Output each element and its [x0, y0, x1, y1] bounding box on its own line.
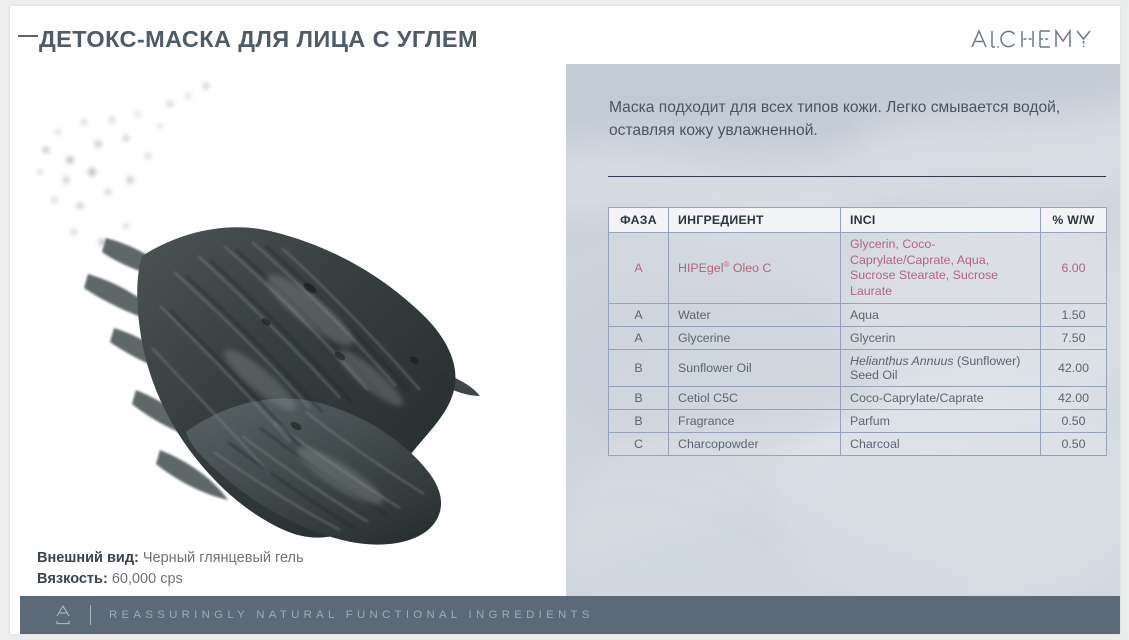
slide-footer: REASSURINGLY NATURAL FUNCTIONAL INGREDIE… [20, 596, 1120, 634]
table-row: BFragranceParfum0.50 [609, 410, 1107, 433]
table-row: CCharcopowderCharcoal0.50 [609, 433, 1107, 456]
cell-inci: Helianthus Annuus (Sunflower) Seed Oil [841, 350, 1041, 387]
cell-ingredient: Charcopowder [669, 433, 841, 456]
formulation-content: Маска подходит для всех типов кожи. Легк… [566, 64, 1120, 600]
footer-tagline: REASSURINGLY NATURAL FUNCTIONAL INGREDIE… [109, 609, 594, 621]
slide-root: ДЕТОКС-МАСКА ДЛЯ ЛИЦА С УГЛЕМ [0, 0, 1129, 640]
charcoal-mask-image [10, 60, 567, 560]
cell-inci: Glycerin, Coco-Caprylate/Caprate, Aqua, … [841, 233, 1041, 304]
cell-inci: Glycerin [841, 327, 1041, 350]
cell-percent: 42.00 [1041, 387, 1107, 410]
slide-header: ДЕТОКС-МАСКА ДЛЯ ЛИЦА С УГЛЕМ [10, 6, 1120, 66]
viscosity-line: Вязкость: 60,000 cps [37, 569, 304, 590]
table-row: BCetiol C5CCoco-Caprylate/Caprate42.00 [609, 387, 1107, 410]
product-properties: Внешний вид: Черный глянцевый гель Вязко… [37, 548, 304, 590]
cell-ingredient: Water [669, 304, 841, 327]
table-row: AGlycerineGlycerin7.50 [609, 327, 1107, 350]
cell-percent: 7.50 [1041, 327, 1107, 350]
cell-phase: B [609, 387, 669, 410]
table-header: ФАЗА ИНГРЕДИЕНТ INCI % W/W [609, 208, 1107, 233]
cell-inci: Aqua [841, 304, 1041, 327]
page-title: ДЕТОКС-МАСКА ДЛЯ ЛИЦА С УГЛЕМ [39, 26, 478, 53]
cell-percent: 6.00 [1041, 233, 1107, 304]
column-header-inci: INCI [841, 208, 1041, 233]
cell-inci: Parfum [841, 410, 1041, 433]
cell-ingredient: Cetiol C5C [669, 387, 841, 410]
cell-phase: A [609, 304, 669, 327]
cell-percent: 1.50 [1041, 304, 1107, 327]
cell-ingredient: Sunflower Oil [669, 350, 841, 387]
table-header-row: ФАЗА ИНГРЕДИЕНТ INCI % W/W [609, 208, 1107, 233]
table-row: AHIPEgel® Oleo CGlycerin, Coco-Caprylate… [609, 233, 1107, 304]
cell-phase: B [609, 410, 669, 433]
cell-phase: A [609, 233, 669, 304]
cell-phase: A [609, 327, 669, 350]
cell-percent: 0.50 [1041, 410, 1107, 433]
viscosity-value: 60,000 cps [112, 571, 183, 587]
cell-inci: Charcoal [841, 433, 1041, 456]
appearance-label: Внешний вид: [37, 550, 139, 566]
appearance-value: Черный глянцевый гель [143, 550, 304, 566]
cell-ingredient: HIPEgel® Oleo C [669, 233, 841, 304]
formulation-panel: Маска подходит для всех типов кожи. Легк… [566, 64, 1120, 600]
column-header-percent: % W/W [1041, 208, 1107, 233]
table-row: BSunflower OilHelianthus Annuus (Sunflow… [609, 350, 1107, 387]
viscosity-label: Вязкость: [37, 571, 108, 587]
cell-ingredient: Fragrance [669, 410, 841, 433]
formulation-table: ФАЗА ИНГРЕДИЕНТ INCI % W/W AHIPEgel® Ole… [608, 207, 1107, 456]
cell-inci: Coco-Caprylate/Caprate [841, 387, 1041, 410]
column-header-ingredient: ИНГРЕДИЕНТ [669, 208, 841, 233]
appearance-line: Внешний вид: Черный глянцевый гель [37, 548, 304, 569]
cell-ingredient: Glycerine [669, 327, 841, 350]
footer-divider [90, 605, 91, 625]
table-body: AHIPEgel® Oleo CGlycerin, Coco-Caprylate… [609, 233, 1107, 456]
alchemy-logo [970, 26, 1102, 52]
cell-phase: C [609, 433, 669, 456]
column-header-phase: ФАЗА [609, 208, 669, 233]
alchemy-a-mark-icon [52, 603, 74, 627]
cell-percent: 42.00 [1041, 350, 1107, 387]
product-image-panel: Внешний вид: Черный глянцевый гель Вязко… [10, 60, 567, 600]
cell-percent: 0.50 [1041, 433, 1107, 456]
slide-canvas: ДЕТОКС-МАСКА ДЛЯ ЛИЦА С УГЛЕМ [10, 6, 1120, 634]
cell-phase: B [609, 350, 669, 387]
title-dash-icon [18, 35, 38, 37]
section-divider [608, 176, 1106, 177]
table-row: AWaterAqua1.50 [609, 304, 1107, 327]
product-description: Маска подходит для всех типов кожи. Легк… [609, 96, 1064, 142]
